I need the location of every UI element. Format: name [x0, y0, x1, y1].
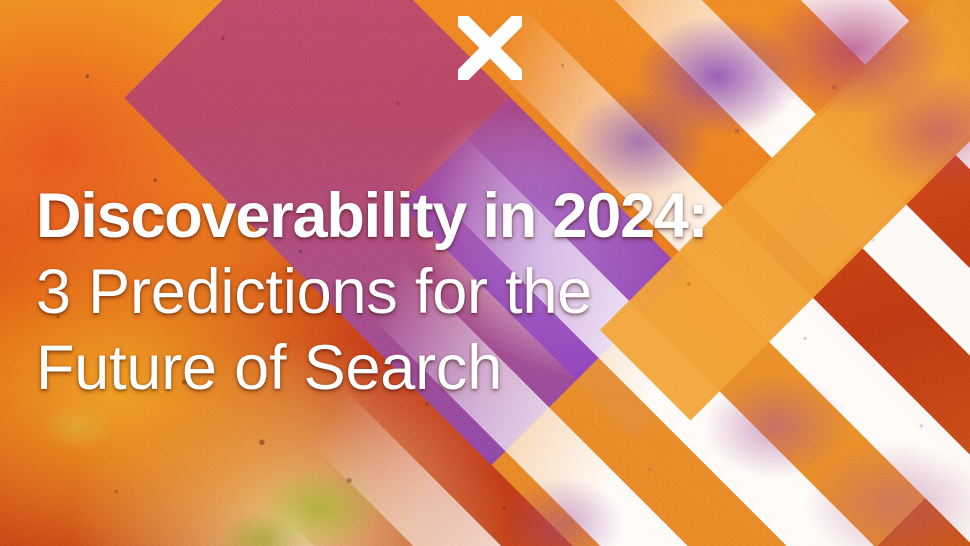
- social-share-card: Discoverability in 2024: 3 Predictions f…: [0, 0, 970, 546]
- x-chevron-logo-icon: [458, 16, 522, 80]
- title-line-2: 3 Predictions for the: [36, 254, 956, 330]
- title-block: Discoverability in 2024: 3 Predictions f…: [36, 178, 956, 406]
- title-line-3: Future of Search: [36, 330, 956, 406]
- title-line-1: Discoverability in 2024:: [36, 178, 956, 254]
